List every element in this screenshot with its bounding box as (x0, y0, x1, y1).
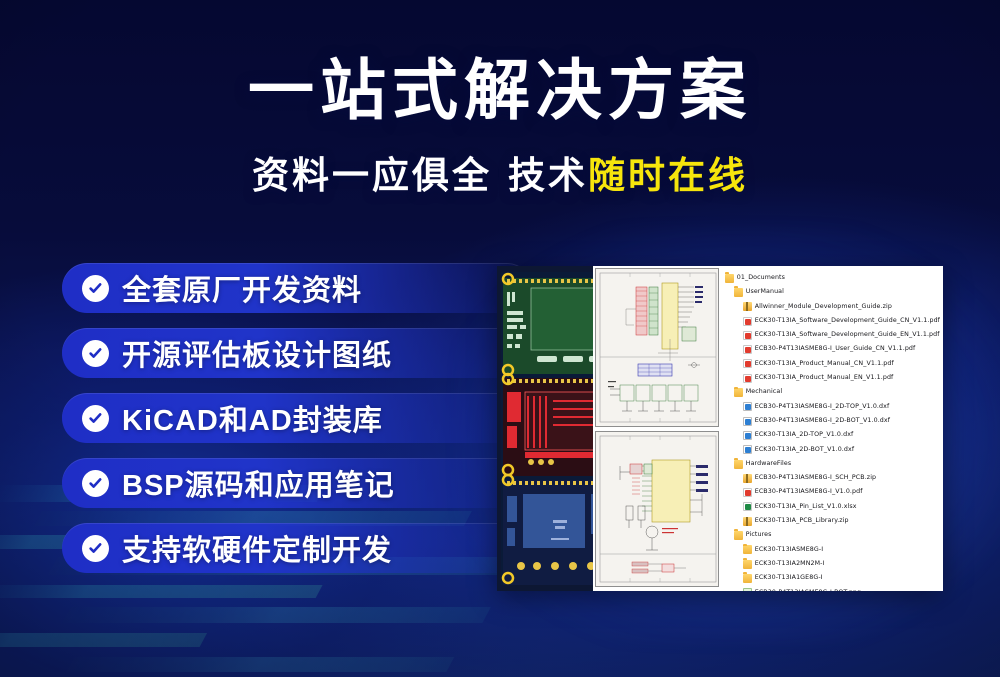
subtitle-part-2: 技术 (508, 155, 588, 196)
schematic-preview-column (593, 266, 721, 591)
tree-item-name: ECK30-T13IA_2D-TOP_V1.0.dxf (755, 428, 854, 442)
tree-file-row[interactable]: ECK30-T13IA_Software_Development_Guide_C… (723, 314, 940, 328)
hero-text-block: 一站式解决方案 资料一应俱全技术随时在线 (0, 56, 1000, 199)
tree-folder-row[interactable]: Mechanical (723, 385, 940, 399)
pdf-icon (743, 374, 752, 383)
dxf-icon (743, 445, 752, 454)
feature-pill-1[interactable]: 全套原厂开发资料 (62, 263, 532, 313)
folder-icon (743, 560, 752, 569)
tree-item-name: ECB30-P4T13IASME8G-I_SCH_PCB.zip (755, 471, 876, 485)
folder-icon (734, 388, 743, 397)
file-explorer-tree: 01_DocumentsUserManualAllwinner_Module_D… (721, 266, 943, 591)
subtitle-part-1: 资料一应俱全 (252, 155, 492, 196)
tree-file-row[interactable]: ECK30-T13IA_2D-TOP_V1.0.dxf (723, 428, 940, 442)
tree-item-name: ECK30-T13IA_2D-BOT_V1.0.dxf (755, 443, 854, 457)
feature-pill-3[interactable]: KiCAD和AD封装库 (62, 393, 532, 443)
tree-item-name: Pictures (746, 528, 772, 542)
tree-item-name: UserManual (746, 285, 784, 299)
tree-item-name: ECB30-P4T13IASME8G-I_2D-TOP_V1.0.dxf (755, 400, 890, 414)
tree-folder-row[interactable]: 01_Documents (723, 271, 940, 285)
feature-pill-label: 支持软硬件定制开发 (122, 527, 392, 569)
tree-file-row[interactable]: ECB30-P4T13IASME8G-I_2D-BOT_V1.0.dxf (723, 414, 940, 428)
dxf-icon (743, 402, 752, 411)
pdf-icon (743, 317, 752, 326)
hero-subtitle: 资料一应俱全技术随时在线 (0, 145, 1000, 199)
tree-item-name: ECK30-T13IASME8G-I (755, 543, 823, 557)
feature-list: 全套原厂开发资料开源评估板设计图纸KiCAD和AD封装库BSP源码和应用笔记支持… (62, 263, 532, 588)
feature-pill-label: KiCAD和AD封装库 (122, 397, 383, 439)
dxf-icon (743, 417, 752, 426)
schematic-page-1 (595, 268, 719, 427)
tree-file-row[interactable]: ECK30-T13IA_Pin_List_V1.0.xlsx (723, 500, 940, 514)
feature-pill-label: BSP源码和应用笔记 (122, 462, 395, 504)
zip-icon (743, 517, 752, 526)
dxf-icon (743, 431, 752, 440)
tree-item-name: ECK30-T13IA1GE8G-I (755, 571, 823, 585)
tree-file-row[interactable]: ECB30-P4T13IASME8G-I_V1.0.pdf (723, 485, 940, 499)
tree-item-name: ECK30-T13IA_Software_Development_Guide_C… (755, 314, 940, 328)
feature-pill-label: 开源评估板设计图纸 (122, 332, 392, 374)
tree-file-row[interactable]: ECK30-T13IA_Product_Manual_CN_V1.1.pdf (723, 357, 940, 371)
feature-pill-label: 全套原厂开发资料 (122, 267, 362, 309)
tree-item-name: ECB30-P4T13IASME8G-I_V1.0.pdf (755, 485, 863, 499)
folder-icon (725, 274, 734, 283)
xls-icon (743, 502, 752, 511)
zip-icon (743, 474, 752, 483)
pdf-icon (743, 488, 752, 497)
tree-item-name: Mechanical (746, 385, 782, 399)
tree-file-row[interactable]: ECB30-P4T13IASME8G-I-BOT.png (723, 586, 940, 591)
tree-folder-row[interactable]: HardwareFiles (723, 457, 940, 471)
pdf-icon (743, 345, 752, 354)
tree-file-row[interactable]: Allwinner_Module_Development_Guide.zip (723, 300, 940, 314)
feature-pill-4[interactable]: BSP源码和应用笔记 (62, 458, 532, 508)
zip-icon (743, 302, 752, 311)
tree-folder-row[interactable]: ECK30-T13IA1GE8G-I (723, 571, 940, 585)
folder-icon (734, 460, 743, 469)
tree-folder-row[interactable]: Pictures (723, 528, 940, 542)
pdf-icon (743, 331, 752, 340)
file-tree-list[interactable]: 01_DocumentsUserManualAllwinner_Module_D… (723, 271, 940, 591)
tree-file-row[interactable]: ECB30-P4T13IASME8G-I_User_Guide_CN_V1.1.… (723, 342, 940, 356)
tree-folder-row[interactable]: ECK30-T13IASME8G-I (723, 543, 940, 557)
tree-item-name: ECK30-T13IA_Product_Manual_EN_V1.1.pdf (755, 371, 894, 385)
media-panel: 01_DocumentsUserManualAllwinner_Module_D… (497, 266, 943, 591)
tree-file-row[interactable]: ECK30-T13IA_PCB_Library.zip (723, 514, 940, 528)
tree-item-name: ECK30-T13IA2MN2M-I (755, 557, 825, 571)
subtitle-highlight: 随时在线 (588, 155, 748, 196)
page-title: 一站式解决方案 (0, 56, 1000, 125)
check-circle-icon (82, 275, 109, 302)
tree-folder-row[interactable]: UserManual (723, 285, 940, 299)
tree-file-row[interactable]: ECK30-T13IA_Product_Manual_EN_V1.1.pdf (723, 371, 940, 385)
tree-item-name: ECK30-T13IA_PCB_Library.zip (755, 514, 849, 528)
check-circle-icon (82, 535, 109, 562)
tree-folder-row[interactable]: ECK30-T13IA2MN2M-I (723, 557, 940, 571)
tree-file-row[interactable]: ECB30-P4T13IASME8G-I_2D-TOP_V1.0.dxf (723, 400, 940, 414)
tree-item-name: ECB30-P4T13IASME8G-I-BOT.png (755, 586, 861, 591)
pcb-layout-preview (497, 266, 593, 591)
tree-file-row[interactable]: ECK30-T13IA_2D-BOT_V1.0.dxf (723, 443, 940, 457)
feature-pill-2[interactable]: 开源评估板设计图纸 (62, 328, 532, 378)
tree-file-row[interactable]: ECK30-T13IA_Software_Development_Guide_E… (723, 328, 940, 342)
png-icon (743, 588, 752, 591)
tree-item-name: ECB30-P4T13IASME8G-I_2D-BOT_V1.0.dxf (755, 414, 890, 428)
feature-pill-5[interactable]: 支持软硬件定制开发 (62, 523, 532, 573)
tree-item-name: ECK30-T13IA_Software_Development_Guide_E… (755, 328, 940, 342)
tree-file-row[interactable]: ECB30-P4T13IASME8G-I_SCH_PCB.zip (723, 471, 940, 485)
check-circle-icon (82, 340, 109, 367)
tree-item-name: ECK30-T13IA_Pin_List_V1.0.xlsx (755, 500, 857, 514)
tree-item-name: HardwareFiles (746, 457, 792, 471)
check-circle-icon (82, 470, 109, 497)
schematic-page-2 (595, 431, 719, 587)
tree-item-name: ECB30-P4T13IASME8G-I_User_Guide_CN_V1.1.… (755, 342, 916, 356)
check-circle-icon (82, 405, 109, 432)
folder-icon (734, 531, 743, 540)
promo-banner: 一站式解决方案 资料一应俱全技术随时在线 全套原厂开发资料开源评估板设计图纸Ki… (0, 0, 1000, 677)
folder-icon (734, 288, 743, 297)
pdf-icon (743, 359, 752, 368)
folder-icon (743, 545, 752, 554)
tree-item-name: 01_Documents (737, 271, 785, 285)
folder-icon (743, 574, 752, 583)
tree-item-name: Allwinner_Module_Development_Guide.zip (755, 300, 892, 314)
tree-item-name: ECK30-T13IA_Product_Manual_CN_V1.1.pdf (755, 357, 894, 371)
